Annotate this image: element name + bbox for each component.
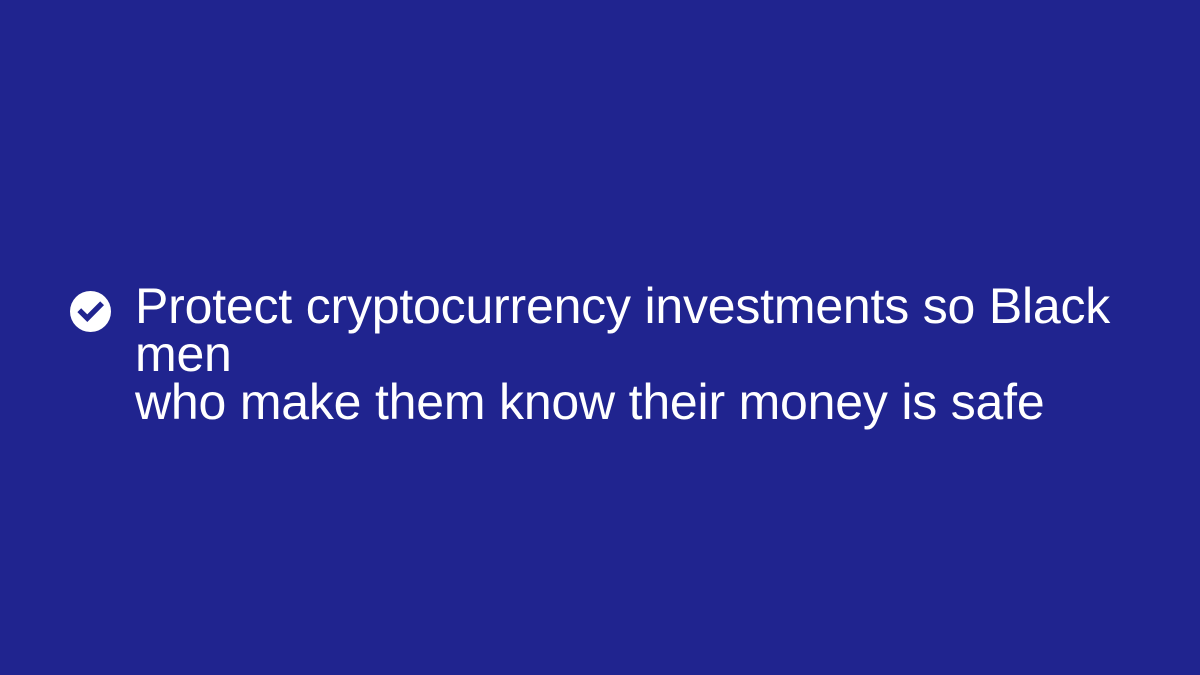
checklist-item-text: Protect cryptocurrency investments so Bl… <box>135 282 1145 426</box>
check-circle-icon <box>70 291 111 332</box>
checklist-item: Protect cryptocurrency investments so Bl… <box>70 282 1170 426</box>
slide-canvas: Protect cryptocurrency investments so Bl… <box>0 0 1200 675</box>
